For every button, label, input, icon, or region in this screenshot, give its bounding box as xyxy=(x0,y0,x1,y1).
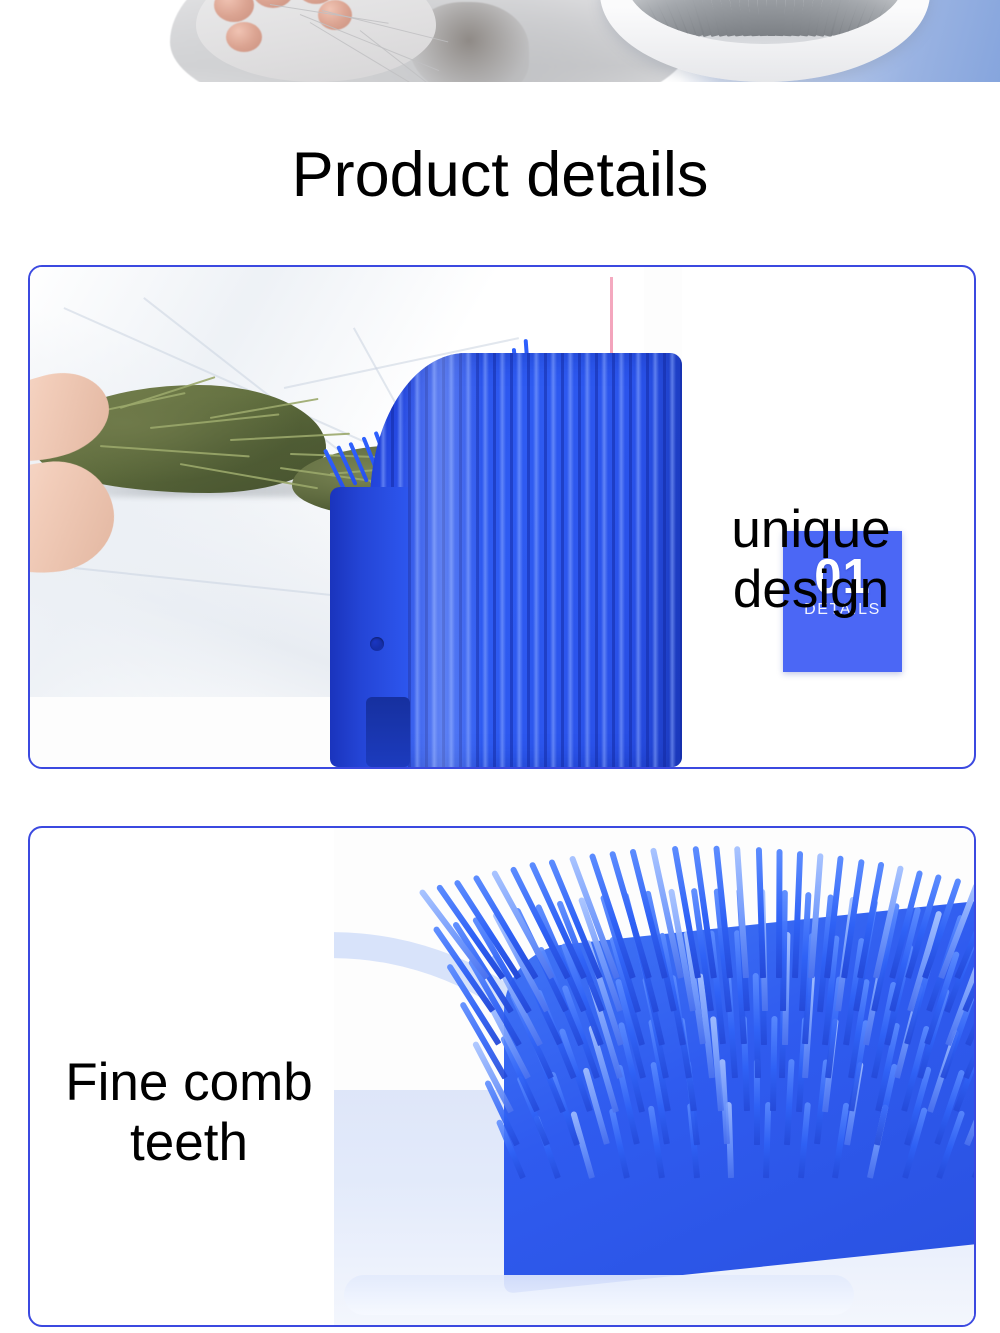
page-title: Product details xyxy=(0,133,1000,217)
comb-groove xyxy=(578,353,581,767)
detail-card-01-photo xyxy=(30,267,682,767)
comb-rib xyxy=(516,353,523,767)
comb-highlight xyxy=(401,353,482,767)
comb-groove xyxy=(629,353,632,767)
banner-photo xyxy=(0,0,1000,82)
comb-mount-slot xyxy=(366,697,410,767)
detail-card-02-photo xyxy=(334,828,974,1325)
comb-tooth xyxy=(776,849,783,978)
comb-groove xyxy=(561,353,564,767)
comb-groove xyxy=(544,353,547,767)
comb-rib xyxy=(584,353,591,767)
comb-groove xyxy=(595,353,598,767)
comb-groove xyxy=(493,353,496,767)
comb-rib xyxy=(618,353,625,767)
comb-groove xyxy=(510,353,513,767)
comb-rib xyxy=(482,353,489,767)
detail-caption-01: unique design xyxy=(652,500,970,620)
grey-brush-bristles xyxy=(626,0,904,44)
comb-groove xyxy=(612,353,615,767)
paw-pad xyxy=(226,22,262,52)
comb-groove xyxy=(646,353,649,767)
comb-rib xyxy=(635,353,642,767)
comb-face xyxy=(370,353,682,767)
comb-groove xyxy=(527,353,530,767)
detail-caption-02: Fine comb teeth xyxy=(30,1053,348,1173)
paw-pad xyxy=(214,0,254,22)
comb-rib xyxy=(550,353,557,767)
comb-rib xyxy=(533,353,540,767)
comb-rib xyxy=(567,353,574,767)
comb-rib xyxy=(499,353,506,767)
comb-base-lip xyxy=(344,1275,854,1315)
comb-rib xyxy=(601,353,608,767)
comb-screw-hole xyxy=(370,637,384,651)
blue-comb-product xyxy=(330,327,682,767)
